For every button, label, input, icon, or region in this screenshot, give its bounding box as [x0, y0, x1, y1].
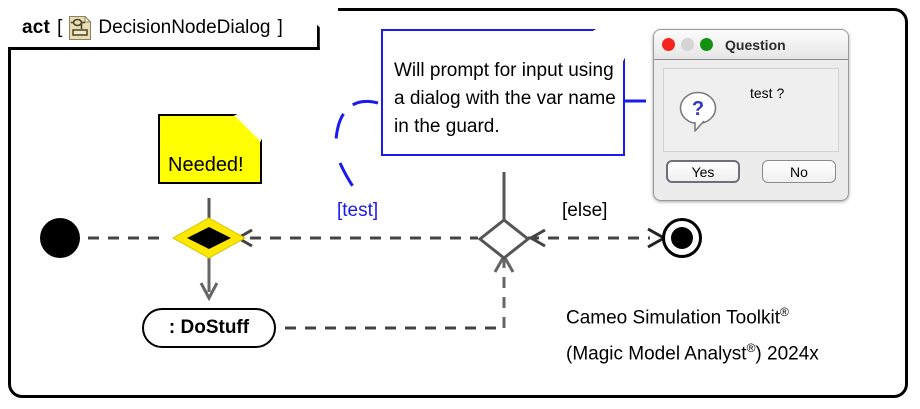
initial-node[interactable]: [40, 218, 80, 258]
svg-text:?: ?: [692, 98, 704, 120]
comment-note[interactable]: Will prompt for input using a dialog wit…: [381, 29, 625, 156]
frame-bracket-close: ]: [278, 17, 283, 39]
yes-button[interactable]: Yes: [666, 160, 740, 183]
activity-final-node[interactable]: [662, 218, 702, 258]
sticky-note-label: Needed!: [168, 154, 244, 177]
credit-line-2-suffix: ) 2024x: [755, 344, 818, 365]
minimize-icon[interactable]: [681, 38, 694, 51]
frame-bracket-open: [: [57, 17, 62, 39]
credit-line-2: (Magic Model Analyst®) 2024x: [566, 333, 819, 369]
credit-line-1-text: Cameo Simulation Toolkit: [566, 307, 780, 328]
frame-name-label: DecisionNodeDialog: [98, 17, 270, 39]
frame-kind-label: act: [22, 17, 50, 39]
frame-header: act [ DecisionNodeDialog ]: [8, 8, 320, 50]
question-dialog[interactable]: Question ? test ? Yes No: [653, 29, 849, 201]
dialog-title: Question: [725, 37, 786, 53]
credit-line-1-registered: ®: [780, 305, 789, 319]
guard-label-else: [else]: [562, 200, 607, 222]
question-bubble-icon: ?: [678, 89, 718, 133]
guard-label-test: [test]: [337, 200, 378, 222]
sticky-note[interactable]: Needed!: [158, 114, 262, 184]
toolkit-credit: Cameo Simulation Toolkit® (Magic Model A…: [566, 297, 819, 370]
credit-line-1: Cameo Simulation Toolkit®: [566, 297, 819, 333]
activity-diagram-icon: [69, 16, 91, 40]
activity-diagram-screenshot: act [ DecisionNodeDialog ]: [0, 0, 920, 409]
credit-line-2-prefix: (Magic Model Analyst: [566, 344, 747, 365]
dialog-message: test ?: [750, 85, 784, 101]
maximize-icon[interactable]: [700, 38, 713, 51]
no-button[interactable]: No: [762, 160, 836, 183]
dialog-titlebar[interactable]: Question: [654, 30, 848, 60]
comment-note-text: Will prompt for input using a dialog wit…: [394, 57, 619, 141]
dialog-content-panel: ? test ?: [663, 68, 839, 152]
action-node-dostuff[interactable]: : DoStuff: [142, 308, 276, 348]
close-icon[interactable]: [662, 38, 675, 51]
